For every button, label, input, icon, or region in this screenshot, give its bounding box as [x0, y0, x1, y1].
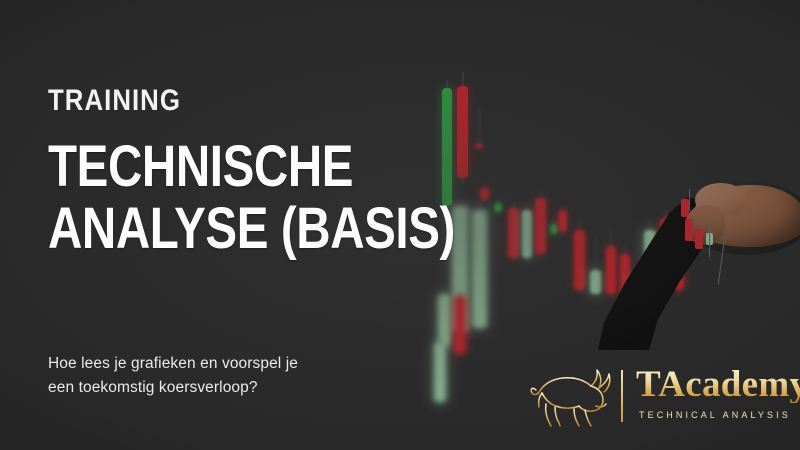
candlestick [574, 58, 585, 348]
candlestick-body [550, 224, 558, 234]
candlestick-body [535, 198, 546, 254]
candlestick-body [472, 210, 487, 328]
subtitle-line-2: een toekomstig koersverloop? [48, 376, 298, 400]
overlay-candle [681, 199, 689, 217]
candlestick [550, 58, 558, 348]
candlestick [494, 58, 502, 348]
brand-logo: TAcademy TECHNICAL ANALYSIS [522, 362, 784, 438]
logo-wordmark: TAcademy [636, 366, 800, 403]
candlestick-body [558, 210, 567, 232]
candlestick-body [494, 203, 502, 212]
candlestick-body [574, 230, 585, 290]
candlestick-body [522, 210, 532, 258]
candlestick-body [454, 296, 466, 354]
overlay-candle-wick [709, 223, 710, 257]
candlestick-body [508, 208, 519, 258]
bull-logo-icon [522, 364, 618, 430]
candlestick [558, 58, 567, 348]
logo-tagline: TECHNICAL ANALYSIS [639, 410, 791, 420]
page-title-line-2: ANALYSE (BASIS) [48, 200, 455, 258]
logo-divider [621, 370, 623, 422]
poster-canvas: TRAINING TECHNISCHE ANALYSE (BASIS) Hoe … [0, 0, 800, 450]
candlestick-body [434, 342, 446, 402]
overlay-candle-wick [689, 189, 690, 211]
candlestick [472, 58, 487, 348]
candlestick [522, 58, 532, 348]
candlestick [454, 58, 466, 348]
overlay-candle [685, 219, 693, 241]
overlay-candle [695, 229, 703, 249]
pointing-hand-image [585, 175, 800, 350]
page-title-line-1: TECHNISCHE [48, 138, 353, 196]
subtitle-block: Hoe lees je grafieken en voorspel je een… [48, 352, 298, 400]
candlestick [508, 58, 519, 348]
eyebrow-label: TRAINING [48, 84, 181, 118]
candlestick [535, 58, 546, 348]
subtitle-line-1: Hoe lees je grafieken en voorspel je [48, 352, 298, 376]
